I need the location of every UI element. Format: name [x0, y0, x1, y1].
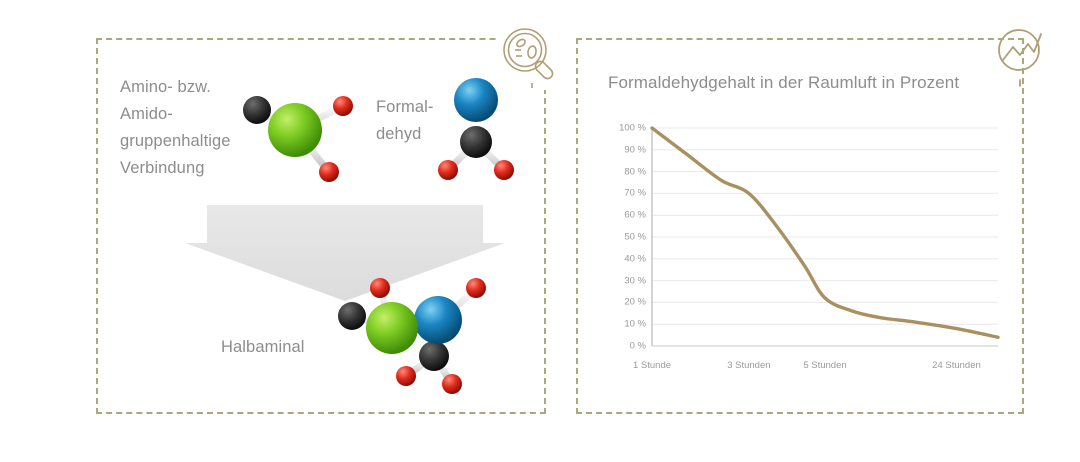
halbaminal-molecule	[330, 272, 505, 402]
magnifier-germ-icon	[499, 24, 565, 90]
chart-series-line	[652, 128, 998, 337]
chart-plot	[600, 118, 1000, 378]
line-chart: 100 %90 %80 %70 %60 %50 %40 %30 %20 %10 …	[600, 118, 1000, 378]
formaldehyde-label-line-2: dehyd	[376, 121, 434, 148]
amino-compound-molecule	[233, 78, 363, 188]
halbaminal-label: Halbaminal	[221, 338, 305, 357]
infographic-canvas: Amino- bzw. Amido- gruppenhaltige Verbin…	[0, 0, 1080, 462]
formaldehyde-label: Formal- dehyd	[376, 94, 434, 148]
formaldehyde-label-line-1: Formal-	[376, 94, 434, 121]
chart-title: Formaldehydgehalt in der Raumluft in Pro…	[608, 73, 959, 93]
